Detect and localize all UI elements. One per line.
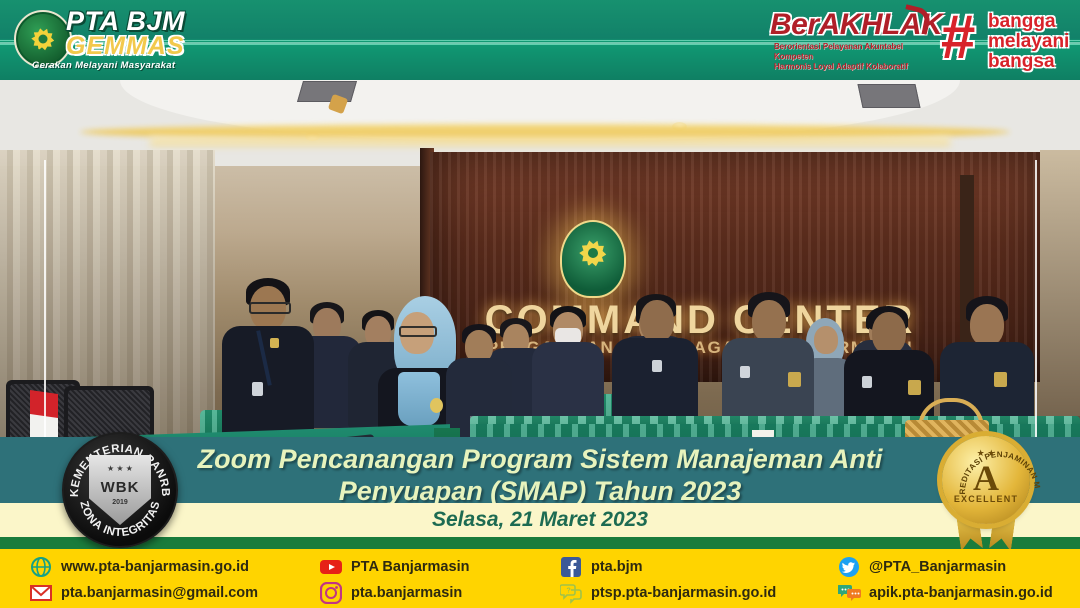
ac-vent-icon [857,84,920,108]
twitter-icon [838,556,860,578]
wbk-stars: ★ ★ ★ [89,464,151,473]
wbk-year: 2019 [89,499,151,506]
akreditasi-penjaminan-mutu-seal: AKREDITASI PENJAMINAN MUTU ★ ★ A EXCELLE… [928,428,1044,552]
footer-label-twitter: @PTA_Banjarmasin [869,559,1006,575]
event-title: Zoom Pencanangan Program Sistem Manajema… [120,443,960,507]
footer-item-apik[interactable]: apik.pta-banjarmasin.go.id [838,582,1053,604]
bangga-melayani-bangsa-logo: # bangga melayani bangsa [940,6,1078,74]
akreditasi-disc: AKREDITASI PENJAMINAN MUTU ★ ★ A EXCELLE… [942,436,1030,524]
footer-label-website: www.pta-banjarmasin.go.id [61,559,249,575]
berakhlak-values: Berorientasi Pelayanan Akuntabel Kompete… [774,42,940,72]
gemmas-subtitle: GEMMAS [66,32,185,61]
footer-bar: www.pta-banjarmasin.go.id pta.banjarmasi… [0,549,1080,608]
globe-icon [30,556,52,578]
eyeglasses-icon [249,302,291,314]
footer-item-youtube[interactable]: PTA Banjarmasin [320,556,469,578]
akreditasi-grade: A [942,460,1030,496]
wbk-zona-integritas-seal: KEMENTERIAN PANRB ZONA INTEGRITAS ★ ★ ★ … [62,432,178,548]
berakhlak-logo: BerAKHLAK Berorientasi Pelayanan Akuntab… [770,8,940,70]
footer-item-email[interactable]: pta.banjarmasin@gmail.com [30,582,258,604]
footer-item-website[interactable]: www.pta-banjarmasin.go.id [30,556,249,578]
event-title-line1: Zoom Pencanangan Program Sistem Manajema… [120,443,960,475]
footer-label-email: pta.banjarmasin@gmail.com [61,585,258,601]
poster-root: PTA BJM GEMMAS Gerakan Melayani Masyarak… [0,0,1080,608]
event-date: Selasa, 21 Maret 2023 [120,508,960,532]
gmail-icon [30,582,52,604]
footer-label-facebook: pta.bjm [591,559,643,575]
footer-label-instagram: pta.banjarmasin [351,585,462,601]
footer-label-ptsp: ptsp.pta-banjarmasin.go.id [591,585,776,601]
berakhlak-values-line1: Berorientasi Pelayanan Akuntabel Kompete… [774,42,940,62]
header-bar: PTA BJM GEMMAS Gerakan Melayani Masyarak… [0,0,1080,80]
instagram-icon [320,582,342,604]
facebook-icon [560,556,582,578]
bangga-line1: bangga [988,12,1056,31]
ac-vent-icon [297,81,357,102]
chat-icon [838,582,860,604]
eyeglasses-icon [399,326,437,337]
footer-item-twitter[interactable]: @PTA_Banjarmasin [838,556,1006,578]
akreditasi-label: EXCELLENT [942,494,1030,504]
right-wall [1040,150,1080,450]
ptsp-icon: ? [560,582,582,604]
svg-text:?: ? [567,588,571,595]
wbk-label: WBK [89,479,151,496]
footer-label-youtube: PTA Banjarmasin [351,559,469,575]
bangga-line2: melayani [988,32,1069,51]
berakhlak-values-line2: Harmonis Loyal Adaptif Kolaboratif [774,62,940,72]
youtube-icon [320,556,342,578]
bangga-line3: bangsa [988,52,1055,71]
footer-label-apik: apik.pta-banjarmasin.go.id [869,585,1053,601]
hashtag-icon: # [940,12,992,66]
gemmas-logo: PTA BJM GEMMAS Gerakan Melayani Masyarak… [14,4,204,76]
footer-item-facebook[interactable]: pta.bjm [560,556,643,578]
gemmas-tagline: Gerakan Melayani Masyarakat [32,60,175,71]
footer-item-ptsp[interactable]: ? ptsp.pta-banjarmasin.go.id [560,582,776,604]
cove-light-inner [150,136,950,146]
pengadilan-emblem-icon [560,220,626,298]
footer-item-instagram[interactable]: pta.banjarmasin [320,582,462,604]
